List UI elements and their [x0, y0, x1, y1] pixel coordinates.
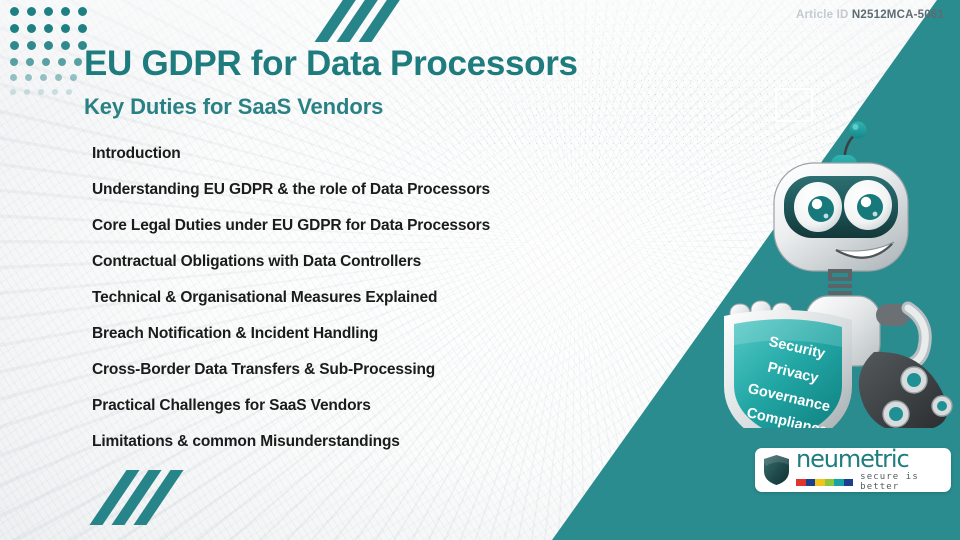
article-id-label: Article ID	[796, 9, 849, 21]
page-subtitle: Key Duties for SaaS Vendors	[84, 94, 383, 120]
slide-canvas: Article ID N2512MCA-5061 EU GDPR for Dat…	[0, 0, 960, 540]
rainbow-bar	[796, 479, 853, 486]
neumetric-logo[interactable]: neumetric secure is better	[755, 448, 951, 492]
diagonal-slashes-bottom	[108, 470, 174, 525]
robot-illustration: Security Privacy Governance Compliance	[718, 108, 960, 428]
page-title: EU GDPR for Data Processors	[84, 44, 578, 84]
list-item: Understanding EU GDPR & the role of Data…	[92, 172, 652, 208]
list-item: Breach Notification & Incident Handling	[92, 316, 652, 352]
list-item: Technical & Organisational Measures Expl…	[92, 280, 652, 316]
diagonal-slashes-top	[330, 0, 396, 42]
article-id-value: N2512MCA-5061	[852, 9, 944, 21]
robot-mascot: Security Privacy Governance Compliance	[718, 108, 960, 428]
list-item: Introduction	[92, 136, 652, 172]
agenda-list: Introduction Understanding EU GDPR & the…	[92, 136, 652, 460]
list-item: Limitations & common Misunderstandings	[92, 424, 652, 460]
list-item: Practical Challenges for SaaS Vendors	[92, 388, 652, 424]
logo-wordmark: neumetric	[796, 448, 943, 470]
list-item: Contractual Obligations with Data Contro…	[92, 244, 652, 280]
logo-tagline: secure is better	[860, 472, 943, 492]
list-item: Cross-Border Data Transfers & Sub-Proces…	[92, 352, 652, 388]
list-item: Core Legal Duties under EU GDPR for Data…	[92, 208, 652, 244]
dot-grid-decoration	[6, 3, 91, 99]
article-id: Article ID N2512MCA-5061	[796, 9, 944, 21]
shield-icon	[763, 454, 790, 486]
